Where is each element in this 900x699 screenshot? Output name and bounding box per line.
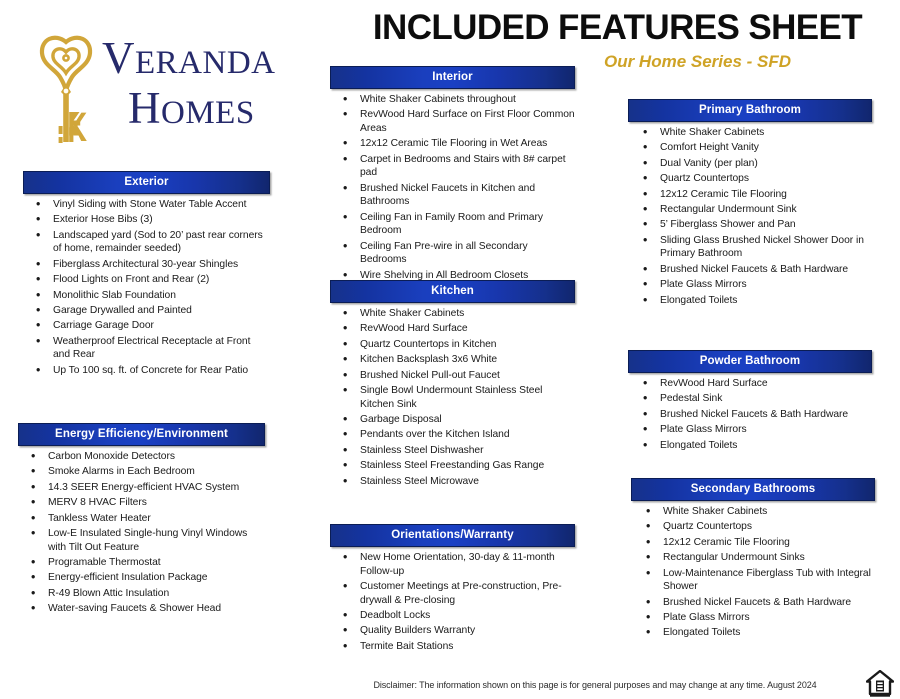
feature-item: Deadbolt Locks	[330, 609, 575, 623]
feature-list-secondary-bathrooms: White Shaker CabinetsQuartz Countertops1…	[631, 501, 875, 640]
feature-list-powder-bathroom: RevWood Hard SurfacePedestal SinkBrushed…	[628, 373, 872, 452]
features-sheet-page: VERANDA HOMES INCLUDED FEATURES SHEET Ou…	[0, 0, 900, 699]
feature-item: Flood Lights on Front and Rear (2)	[23, 273, 270, 287]
feature-item: Carriage Garage Door	[23, 319, 270, 333]
feature-item: RevWood Hard Surface	[330, 322, 575, 336]
feature-list-exterior: Vinyl Siding with Stone Water Table Acce…	[23, 194, 270, 377]
feature-item: Ceiling Fan in Family Room and Primary B…	[330, 211, 575, 238]
feature-item: Comfort Height Vanity	[628, 141, 872, 155]
feature-item: Quality Builders Warranty	[330, 624, 575, 638]
feature-item: Smoke Alarms in Each Bedroom	[18, 465, 265, 479]
feature-item: Dual Vanity (per plan)	[628, 157, 872, 171]
section-header-kitchen: Kitchen	[330, 280, 575, 303]
feature-item: White Shaker Cabinets	[631, 505, 875, 519]
section-header-primary-bathroom: Primary Bathroom	[628, 99, 872, 122]
equal-housing-opportunity-icon	[866, 670, 894, 697]
feature-item: Stainless Steel Dishwasher	[330, 444, 575, 458]
feature-item: 12x12 Ceramic Tile Flooring	[628, 188, 872, 202]
feature-list-primary-bathroom: White Shaker CabinetsComfort Height Vani…	[628, 122, 872, 307]
feature-item: Plate Glass Mirrors	[628, 278, 872, 292]
feature-item: Elongated Toilets	[628, 439, 872, 453]
feature-item: Termite Bait Stations	[330, 640, 575, 654]
feature-item: White Shaker Cabinets	[330, 307, 575, 321]
feature-item: Monolithic Slab Foundation	[23, 289, 270, 303]
feature-item: Low-E Insulated Single-hung Vinyl Window…	[18, 527, 265, 554]
feature-item: Sliding Glass Brushed Nickel Shower Door…	[628, 234, 872, 261]
section-header-exterior: Exterior	[23, 171, 270, 194]
feature-item: Quartz Countertops in Kitchen	[330, 338, 575, 352]
feature-item: White Shaker Cabinets throughout	[330, 93, 575, 107]
section-secondary-bathrooms: Secondary Bathrooms White Shaker Cabinet…	[631, 478, 875, 642]
logo-line-veranda: VERANDA	[102, 36, 276, 81]
feature-item: Brushed Nickel Faucets & Bath Hardware	[628, 263, 872, 277]
feature-item: RevWood Hard Surface on First Floor Comm…	[330, 108, 575, 135]
feature-item: Single Bowl Undermount Stainless Steel K…	[330, 384, 575, 411]
feature-list-orientations-warranty: New Home Orientation, 30-day & 11-month …	[330, 547, 575, 653]
logo-line-homes: HOMES	[128, 86, 255, 131]
section-orientations-warranty: Orientations/Warranty New Home Orientati…	[330, 524, 575, 655]
feature-item: MERV 8 HVAC Filters	[18, 496, 265, 510]
feature-item: Pedestal Sink	[628, 392, 872, 406]
feature-item: Rectangular Undermount Sinks	[631, 551, 875, 565]
feature-item: Fiberglass Architectural 30-year Shingle…	[23, 258, 270, 272]
feature-item: Ceiling Fan Pre-wire in all Secondary Be…	[330, 240, 575, 267]
feature-item: Plate Glass Mirrors	[628, 423, 872, 437]
feature-item: Landscaped yard (Sod to 20’ past rear co…	[23, 229, 270, 256]
feature-item: Tankless Water Heater	[18, 512, 265, 526]
page-title: INCLUDED FEATURES SHEET	[345, 8, 890, 48]
feature-item: Brushed Nickel Pull-out Faucet	[330, 369, 575, 383]
section-powder-bathroom: Powder Bathroom RevWood Hard SurfacePede…	[628, 350, 872, 454]
feature-item: Stainless Steel Freestanding Gas Range	[330, 459, 575, 473]
feature-item: Rectangular Undermount Sink	[628, 203, 872, 217]
feature-item: Elongated Toilets	[631, 626, 875, 640]
section-header-secondary-bathrooms: Secondary Bathrooms	[631, 478, 875, 501]
feature-item: White Shaker Cabinets	[628, 126, 872, 140]
feature-item: Brushed Nickel Faucets in Kitchen and Ba…	[330, 182, 575, 209]
ornate-gold-key-icon	[35, 34, 97, 146]
feature-item: Programable Thermostat	[18, 556, 265, 570]
feature-item: Vinyl Siding with Stone Water Table Acce…	[23, 198, 270, 212]
logo-wordmark: VERANDA HOMES	[102, 30, 307, 148]
feature-item: Exterior Hose Bibs (3)	[23, 213, 270, 227]
section-energy-efficiency: Energy Efficiency/Environment Carbon Mon…	[18, 423, 265, 618]
feature-item: Brushed Nickel Faucets & Bath Hardware	[628, 408, 872, 422]
disclaimer-text: Disclaimer: The information shown on thi…	[330, 680, 860, 690]
feature-item: Carpet in Bedrooms and Stairs with 8# ca…	[330, 153, 575, 180]
section-primary-bathroom: Primary Bathroom White Shaker CabinetsCo…	[628, 99, 872, 309]
feature-item: Carbon Monoxide Detectors	[18, 450, 265, 464]
feature-item: Customer Meetings at Pre-construction, P…	[330, 580, 575, 607]
feature-item: Brushed Nickel Faucets & Bath Hardware	[631, 596, 875, 610]
feature-item: 14.3 SEER Energy-efficient HVAC System	[18, 481, 265, 495]
feature-item: Quartz Countertops	[631, 520, 875, 534]
feature-item: Kitchen Backsplash 3x6 White	[330, 353, 575, 367]
feature-item: Plate Glass Mirrors	[631, 611, 875, 625]
feature-item: 12x12 Ceramic Tile Flooring in Wet Areas	[330, 137, 575, 151]
feature-list-energy-efficiency: Carbon Monoxide DetectorsSmoke Alarms in…	[18, 446, 265, 616]
feature-item: New Home Orientation, 30-day & 11-month …	[330, 551, 575, 578]
veranda-homes-logo: VERANDA HOMES	[30, 28, 305, 150]
feature-item: Stainless Steel Microwave	[330, 475, 575, 489]
feature-item: Energy-efficient Insulation Package	[18, 571, 265, 585]
feature-item: Elongated Toilets	[628, 294, 872, 308]
feature-item: Low-Maintenance Fiberglass Tub with Inte…	[631, 567, 875, 594]
feature-item: Water-saving Faucets & Shower Head	[18, 602, 265, 616]
section-kitchen: Kitchen White Shaker CabinetsRevWood Har…	[330, 280, 575, 490]
feature-item: Up To 100 sq. ft. of Concrete for Rear P…	[23, 364, 270, 378]
feature-item: Weatherproof Electrical Receptacle at Fr…	[23, 335, 270, 362]
feature-item: 5’ Fiberglass Shower and Pan	[628, 218, 872, 232]
feature-item: Pendants over the Kitchen Island	[330, 428, 575, 442]
feature-item: Garbage Disposal	[330, 413, 575, 427]
section-header-orientations-warranty: Orientations/Warranty	[330, 524, 575, 547]
feature-list-interior: White Shaker Cabinets throughoutRevWood …	[330, 89, 575, 282]
feature-item: RevWood Hard Surface	[628, 377, 872, 391]
feature-list-kitchen: White Shaker CabinetsRevWood Hard Surfac…	[330, 303, 575, 488]
section-interior: Interior White Shaker Cabinets throughou…	[330, 66, 575, 284]
feature-item: R-49 Blown Attic Insulation	[18, 587, 265, 601]
section-header-interior: Interior	[330, 66, 575, 89]
feature-item: Garage Drywalled and Painted	[23, 304, 270, 318]
section-header-energy-efficiency: Energy Efficiency/Environment	[18, 423, 265, 446]
section-exterior: Exterior Vinyl Siding with Stone Water T…	[23, 171, 270, 379]
section-header-powder-bathroom: Powder Bathroom	[628, 350, 872, 373]
feature-item: Quartz Countertops	[628, 172, 872, 186]
feature-item: 12x12 Ceramic Tile Flooring	[631, 536, 875, 550]
